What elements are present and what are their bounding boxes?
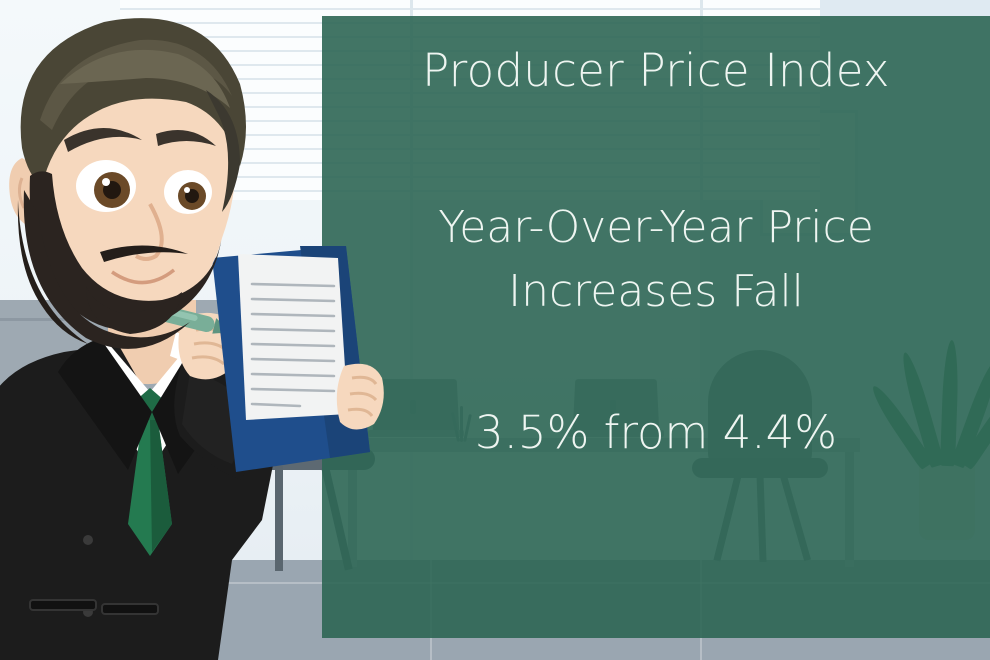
subheadline-line-2: Increases Fall (322, 260, 990, 324)
jacket-pocket (102, 604, 158, 614)
subheadline: Year-Over-Year Price Increases Fall (322, 196, 990, 324)
hand-left (337, 364, 384, 430)
text-stack: Producer Price Index Year-Over-Year Pric… (322, 16, 990, 638)
blue-clipboard (212, 246, 370, 472)
eye-glint-left (102, 178, 110, 186)
subheadline-line-1: Year-Over-Year Price (322, 196, 990, 260)
headline-producer-price-index: Producer Price Index (322, 46, 990, 96)
statistic-line: 3.5% from 4.4% (322, 406, 990, 460)
cartoon-businessman (0, 0, 400, 660)
green-text-panel: Producer Price Index Year-Over-Year Pric… (322, 16, 990, 638)
jacket-button (83, 535, 93, 545)
jacket-pocket (30, 600, 96, 610)
slide-canvas: Producer Price Index Year-Over-Year Pric… (0, 0, 990, 660)
eye-glint-right (184, 187, 190, 193)
lined-document (238, 254, 348, 420)
